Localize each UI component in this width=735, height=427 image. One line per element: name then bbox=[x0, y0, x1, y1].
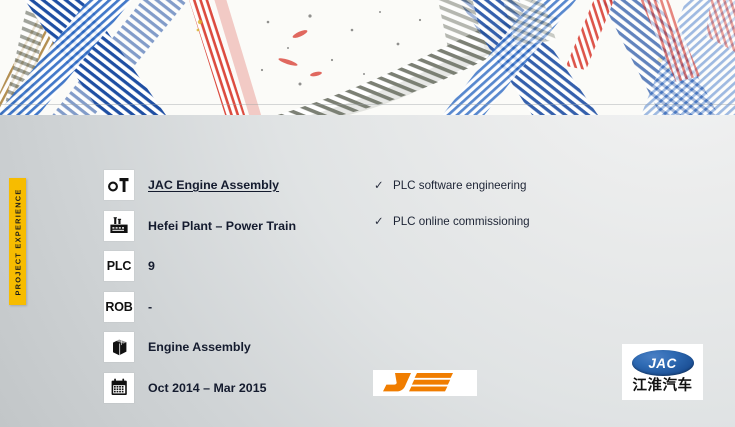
check-icon: ✓ bbox=[374, 176, 388, 196]
check-icon: ✓ bbox=[374, 212, 388, 232]
factory-icon bbox=[104, 211, 134, 241]
info-row-plant: Hefei Plant – Power Train bbox=[104, 211, 364, 252]
info-row-robot-count: ROB - bbox=[104, 292, 364, 333]
package-icon bbox=[104, 332, 134, 362]
project-name-label[interactable]: JAC Engine Assembly bbox=[148, 170, 279, 200]
scope-item-2: ✓ PLC online commissioning bbox=[374, 212, 674, 248]
jee-logo bbox=[373, 370, 477, 396]
info-row-duration: Oct 2014 – Mar 2015 bbox=[104, 373, 364, 414]
info-row-product: Engine Assembly bbox=[104, 332, 364, 373]
duration-label: Oct 2014 – Mar 2015 bbox=[148, 373, 266, 403]
bolt-nut-icon bbox=[104, 170, 134, 200]
robot-count-label: - bbox=[148, 292, 152, 322]
rob-icon-text: ROB bbox=[105, 300, 132, 314]
section-tab-project-experience: PROJECT EXPERIENCE bbox=[9, 178, 26, 305]
jac-chinese-name: 江淮汽车 bbox=[633, 379, 693, 394]
info-row-plc-count: PLC 9 bbox=[104, 251, 364, 292]
project-info-list: JAC Engine Assembly bbox=[104, 170, 364, 413]
jac-logo: JAC 江淮汽车 bbox=[622, 344, 703, 400]
rob-icon: ROB bbox=[104, 292, 134, 322]
plant-label: Hefei Plant – Power Train bbox=[148, 211, 296, 241]
plc-icon: PLC bbox=[104, 251, 134, 281]
scope-item-1-label: PLC software engineering bbox=[393, 179, 526, 192]
jac-oval-badge: JAC bbox=[632, 350, 694, 376]
calendar-icon bbox=[104, 373, 134, 403]
banner-artwork-svg bbox=[0, 0, 735, 115]
banner-image bbox=[0, 0, 735, 116]
section-tab-label: PROJECT EXPERIENCE bbox=[13, 188, 22, 295]
slide-root: PROJECT EXPERIENCE JAC Engine Assembly bbox=[0, 0, 735, 427]
plc-icon-text: PLC bbox=[107, 259, 131, 273]
plc-count-label: 9 bbox=[148, 251, 155, 281]
product-label: Engine Assembly bbox=[148, 332, 251, 362]
scope-item-2-label: PLC online commissioning bbox=[393, 215, 530, 228]
info-row-project-name: JAC Engine Assembly bbox=[104, 170, 364, 211]
jac-wordmark: JAC bbox=[648, 356, 676, 371]
scope-list: ✓ PLC software engineering ✓ PLC online … bbox=[374, 176, 674, 248]
jee-logo-svg bbox=[381, 373, 469, 393]
scope-item-1: ✓ PLC software engineering bbox=[374, 176, 674, 212]
